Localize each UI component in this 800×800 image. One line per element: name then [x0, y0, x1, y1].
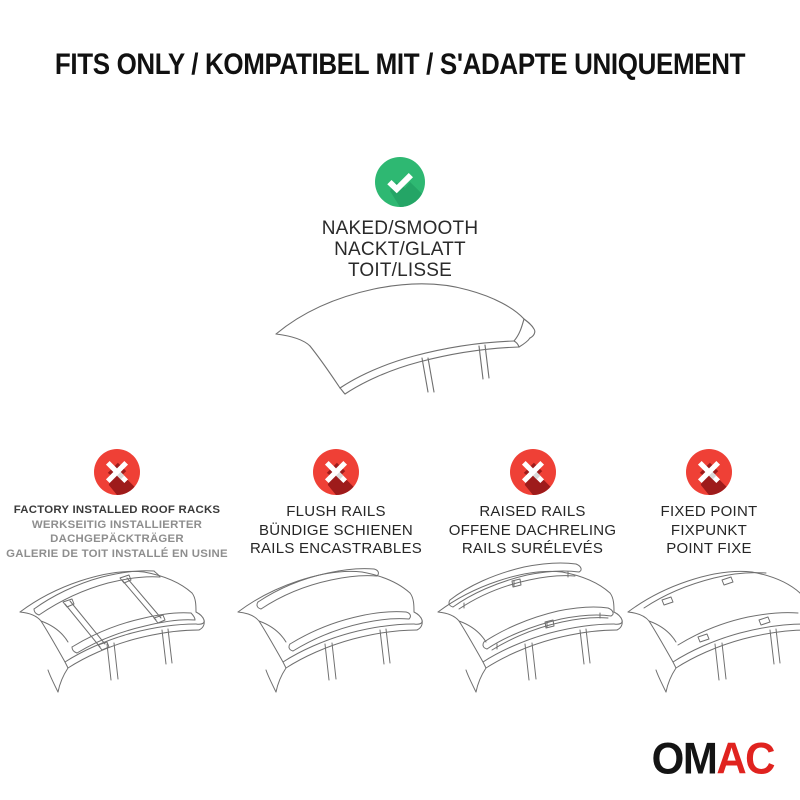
logo-text-red: AC — [716, 734, 774, 783]
rejected-labels: FIXED POINT FIXPUNKT POINT FIXE — [620, 503, 798, 559]
omac-logo: OMAC — [652, 738, 774, 780]
rejected-label-line-1: FIXED POINT — [620, 503, 798, 522]
rejected-label-line-1: FLUSH RAILS — [226, 503, 446, 522]
check-circle-icon — [375, 157, 425, 207]
x-circle-icon — [94, 449, 140, 495]
x-circle-icon — [313, 449, 359, 495]
car-roof-raised-rails-illustration — [428, 552, 643, 697]
rejected-item-flush-rails: FLUSH RAILS BÜNDIGE SCHIENEN RAILS ENCAS… — [226, 449, 446, 559]
x-circle-icon — [686, 449, 732, 495]
x-circle-icon — [510, 449, 556, 495]
rejected-label-line-2: BÜNDIGE SCHIENEN — [226, 522, 446, 541]
rejected-label-line-3: DACHGEPÄCKTRÄGER — [2, 532, 232, 547]
approved-labels: NAKED/SMOOTH NACKT/GLATT TOIT/LISSE — [0, 218, 800, 281]
rejected-item-fixed-point: FIXED POINT FIXPUNKT POINT FIXE — [620, 449, 798, 559]
approved-roof-type: NAKED/SMOOTH NACKT/GLATT TOIT/LISSE — [0, 157, 800, 281]
rejected-labels: RAISED RAILS OFFENE DACHRELING RAILS SUR… — [425, 503, 640, 559]
logo-text-black: OM — [652, 734, 717, 783]
rejected-label-line-1: RAISED RAILS — [425, 503, 640, 522]
rejected-labels: FLUSH RAILS BÜNDIGE SCHIENEN RAILS ENCAS… — [226, 503, 446, 559]
rejected-label-line-2: WERKSEITIG INSTALLIERTER — [2, 518, 232, 533]
page-title: FITS ONLY / KOMPATIBEL MIT / S'ADAPTE UN… — [48, 48, 752, 82]
car-roof-flush-rails-illustration — [228, 552, 443, 697]
car-roof-fixed-point-illustration — [618, 552, 800, 697]
rejected-label-line-2: OFFENE DACHRELING — [425, 522, 640, 541]
car-roof-factory-installed-roof-racks-illustration — [10, 552, 225, 697]
car-roof-naked-smooth-illustration — [262, 278, 562, 408]
rejected-label-line-1: FACTORY INSTALLED ROOF RACKS — [2, 503, 232, 518]
rejected-item-factory-installed-roof-racks: FACTORY INSTALLED ROOF RACKS WERKSEITIG … — [2, 449, 232, 561]
rejected-item-raised-rails: RAISED RAILS OFFENE DACHRELING RAILS SUR… — [425, 449, 640, 559]
rejected-label-line-2: FIXPUNKT — [620, 522, 798, 541]
approved-label-line-1: NAKED/SMOOTH — [0, 218, 800, 239]
approved-label-line-2: NACKT/GLATT — [0, 239, 800, 260]
